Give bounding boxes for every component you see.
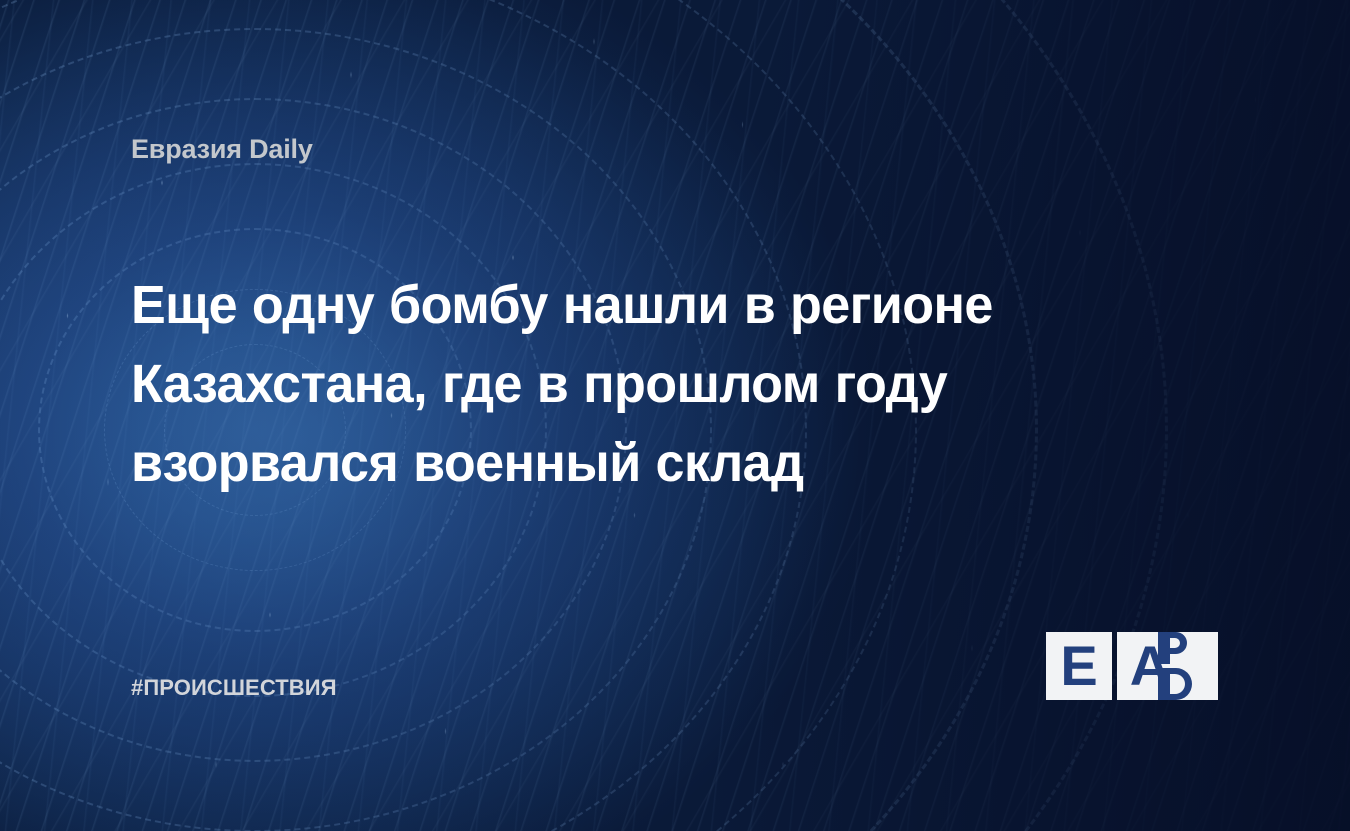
card-content: Евразия Daily Еще одну бомбу нашли в рег… [0,0,1350,831]
headline-text: Еще одну бомбу нашли в регионе Казахстан… [131,266,1028,503]
eadaily-logo: E A [1046,624,1226,708]
category-hashtag: #ПРОИСШЕСТВИЯ [131,675,337,701]
logo-letter-d-mark [1146,624,1226,708]
logo-letter-e: E [1046,632,1112,700]
news-share-card: Евразия Daily Еще одну бомбу нашли в рег… [0,0,1350,831]
brand-name: Евразия Daily [131,134,313,165]
